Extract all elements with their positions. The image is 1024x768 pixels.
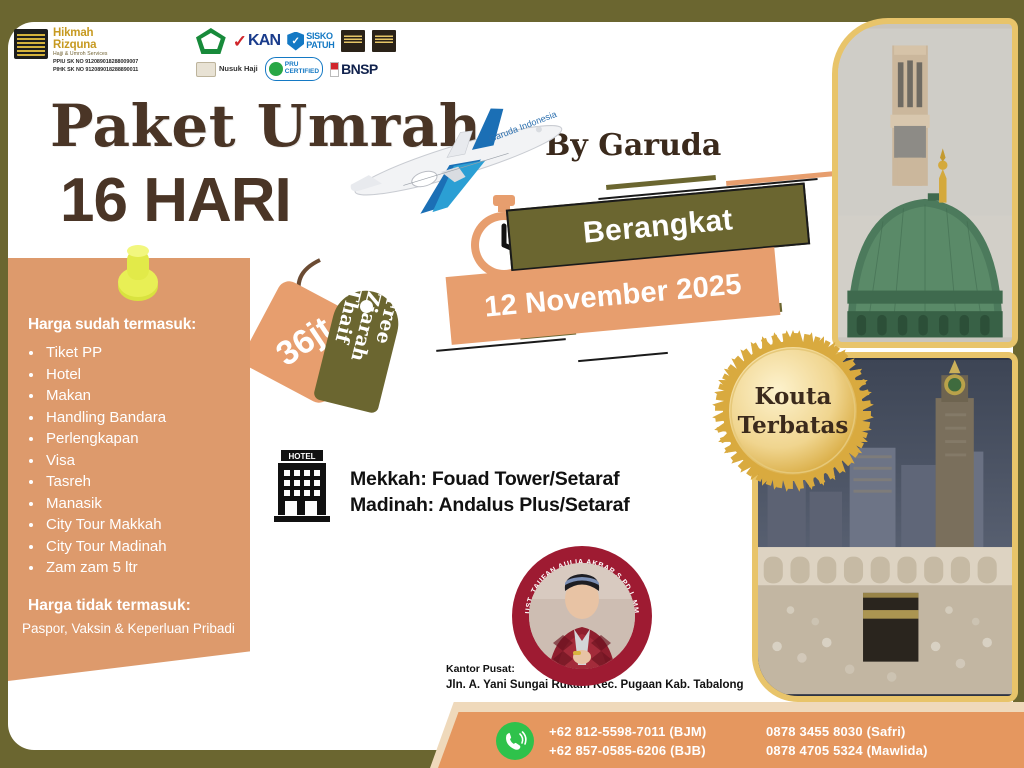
whatsapp-icon[interactable] (496, 722, 534, 760)
list-item: City Tour Madinah (44, 536, 254, 558)
list-item: City Tour Makkah (44, 514, 254, 536)
director-portrait: UST. TAUFAN AULIA AKBAR S.PD.I, MM DIREK… (512, 546, 652, 686)
bnsp-logo-icon: BNSP (330, 57, 378, 81)
pru-label2: CERTIFIED (285, 68, 319, 75)
brand-reg-line1: PPIU SK NO 912089018288009007 (53, 59, 138, 66)
amphuri-logo-icon (341, 30, 365, 52)
package-duration: 16 HARI (60, 165, 291, 236)
hotel-makkah: Mekkah: Fouad Tower/Setaraf (350, 466, 630, 492)
exclusions-text: Paspor, Vaksin & Keperluan Pribadi (22, 621, 235, 636)
departure-date: 12 November 2025 (483, 268, 743, 324)
list-item: Tiket PP (44, 342, 254, 364)
contact-column-right: 0878 3455 8030 (Safri) 0878 4705 5324 (M… (766, 722, 928, 760)
list-item: Makan (44, 385, 254, 407)
departure-label: Berangkat (582, 203, 735, 250)
brand-reg-line2: PIHK SK NO 912089018288890011 (53, 67, 138, 74)
kemenag-logo-icon (196, 28, 226, 54)
hotel-info: Mekkah: Fouad Tower/Setaraf Madinah: And… (350, 466, 630, 518)
director-photo (529, 563, 635, 669)
nusuk-label: Nusuk Haji (219, 65, 258, 73)
list-item: Visa (44, 450, 254, 472)
quota-line1: Kouta (754, 382, 831, 411)
nusuk-haji-logo-icon: Nusuk Haji (196, 57, 258, 81)
list-item: Perlengkapan (44, 428, 254, 450)
poster-canvas: Hikmah Rizquna Hajji & Umroh Services PP… (0, 0, 1024, 768)
kaaba-mark-icon (14, 29, 48, 59)
certification-logos: ✓ KAN ✓ SISKO PATUH Nusuk Haji PRU (196, 28, 396, 80)
price-tags: 36jt Free Ziarah Thaif (250, 240, 430, 420)
sisko-label2: PATUH (306, 40, 334, 50)
quota-line2: Terbatas (738, 411, 849, 440)
list-item: Manasik (44, 493, 254, 515)
inclusions-card: Harga sudah termasuk: Tiket PP Hotel Mak… (8, 258, 250, 681)
list-item: Hotel (44, 364, 254, 386)
list-item: Handling Bandara (44, 407, 254, 429)
phone-number[interactable]: +62 857-0585-6206 (BJB) (549, 741, 706, 760)
brand-tagline: Hajji & Umroh Services (53, 52, 138, 57)
brand-name-line1: Hikmah (53, 28, 138, 40)
himpuh-logo-icon (372, 30, 396, 52)
contact-column-left: +62 812-5598-7011 (BJM) +62 857-0585-620… (549, 722, 706, 760)
inclusions-title: Harga sudah termasuk: (28, 316, 196, 334)
bnsp-label: BNSP (341, 61, 378, 77)
company-logo: Hikmah Rizquna Hajji & Umroh Services PP… (14, 28, 194, 76)
phone-number[interactable]: 0878 3455 8030 (Safri) (766, 722, 928, 741)
sisko-patuh-logo-icon: ✓ SISKO PATUH (287, 29, 334, 53)
list-item: Zam zam 5 ltr (44, 557, 254, 579)
quota-badge-text: Kouta Terbatas (712, 330, 874, 492)
inclusions-list: Tiket PP Hotel Makan Handling Bandara Pe… (44, 342, 254, 579)
phone-number[interactable]: 0878 4705 5324 (Mawlida) (766, 741, 928, 760)
brand-name-line2: Rizquna (53, 40, 138, 52)
hotel-madinah: Madinah: Andalus Plus/Setaraf (350, 492, 630, 518)
tag-hole-icon (360, 300, 373, 313)
phone-number[interactable]: +62 812-5598-7011 (BJM) (549, 722, 706, 741)
kan-label: KAN (248, 32, 280, 50)
kan-logo-icon: ✓ KAN (233, 29, 281, 53)
pru-certified-logo-icon: PRU CERTIFIED (265, 57, 323, 81)
list-item: Tasreh (44, 471, 254, 493)
masjid-nabawi-photo (832, 18, 1018, 348)
exclusions-title: Harga tidak termasuk: (28, 597, 191, 615)
hotel-icon: HOTEL (272, 450, 332, 522)
svg-text:HOTEL: HOTEL (288, 452, 315, 461)
pushpin-icon (108, 240, 168, 306)
